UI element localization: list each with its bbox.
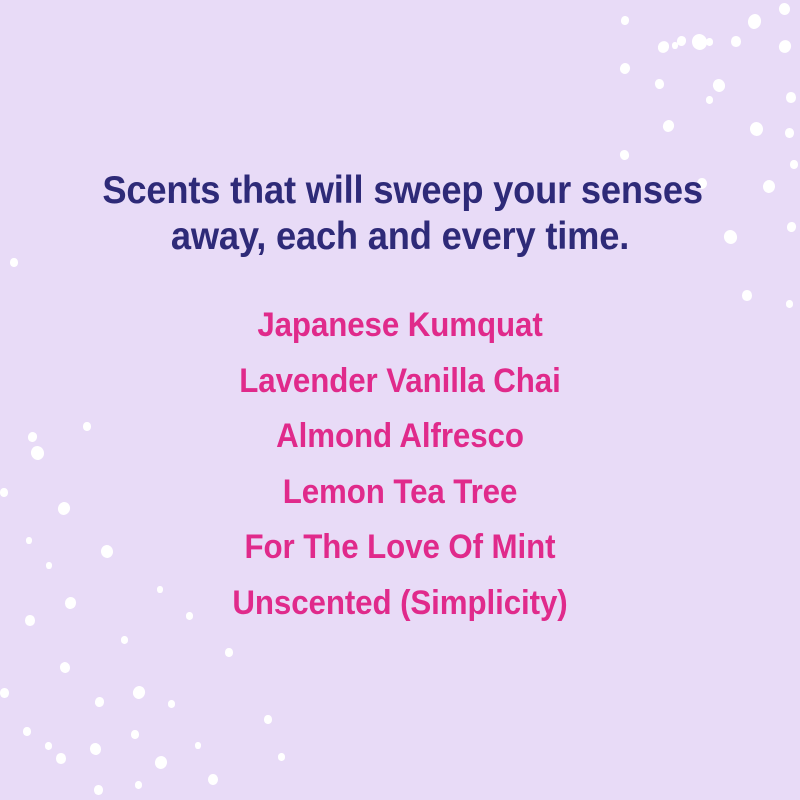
list-item: For The Love Of Mint: [106, 520, 695, 576]
list-item: Lemon Tea Tree: [106, 465, 695, 521]
list-item: Almond Alfresco: [106, 409, 695, 465]
poster-content: Scents that will sweep your senses away,…: [0, 0, 800, 800]
headline-line-2: away, each and every time.: [102, 214, 697, 260]
list-item: Unscented (Simplicity): [106, 576, 695, 632]
scent-list-poster: Scents that will sweep your senses away,…: [0, 0, 800, 800]
list-item: Lavender Vanilla Chai: [106, 354, 695, 410]
headline-line-1: Scents that will sweep your senses: [102, 168, 697, 214]
page-title: Scents that will sweep your senses away,…: [102, 168, 697, 260]
list-item: Japanese Kumquat: [106, 298, 695, 354]
scent-list: Japanese Kumquat Lavender Vanilla Chai A…: [80, 298, 720, 631]
